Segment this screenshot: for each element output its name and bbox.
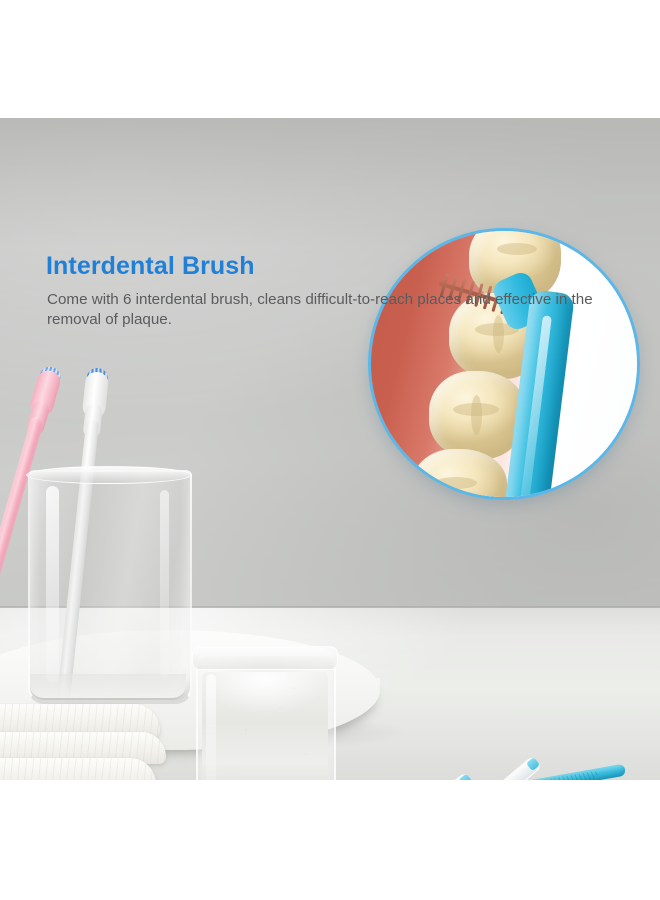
interdental-brush-closeup-inset: [368, 228, 640, 500]
glass-highlight-left: [46, 486, 59, 682]
tooth-3-groove-v: [471, 395, 482, 435]
glass-highlight-right: [160, 490, 169, 678]
folded-towels: [0, 704, 170, 780]
page-subtitle: Come with 6 interdental brush, cleans di…: [47, 290, 643, 330]
jar-powder: [202, 672, 328, 780]
product-marketing-image: Interdental Brush Come with 6 interdenta…: [0, 0, 660, 900]
header-wash: [0, 118, 660, 248]
glass-rim: [26, 466, 192, 484]
product-photo: Interdental Brush Come with 6 interdenta…: [0, 118, 660, 780]
powder-jar: [196, 654, 336, 780]
tooth-1-groove: [497, 243, 537, 255]
towel-bottom: [0, 758, 156, 780]
page-title: Interdental Brush: [46, 252, 255, 281]
tooth-3: [429, 371, 525, 459]
powder-grain-texture: [202, 672, 328, 780]
tooth-4-groove: [435, 477, 477, 489]
towel-rib-texture: [0, 758, 156, 780]
jar-highlight: [206, 674, 216, 780]
jar-neck: [192, 646, 338, 670]
